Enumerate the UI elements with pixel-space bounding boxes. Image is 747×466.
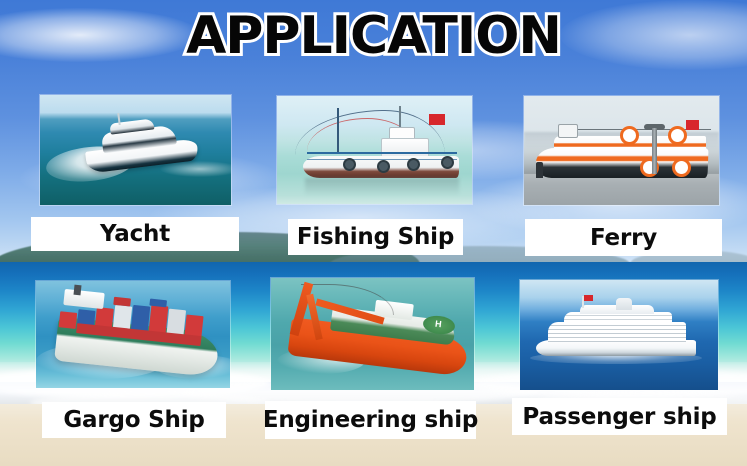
fishing-rail — [307, 152, 457, 160]
red-flag-icon — [686, 120, 699, 130]
photo-fishing-ship — [277, 96, 472, 204]
life-ring-icon — [620, 126, 639, 145]
water-reflection — [305, 178, 459, 196]
label-engineering-ship: Engineering ship — [265, 401, 476, 439]
lamp-post — [652, 128, 657, 174]
fishing-mast — [337, 108, 339, 154]
cruise-decks-lower — [548, 322, 686, 342]
photo-cargo-ship — [36, 281, 230, 388]
cruise-funnel — [616, 298, 632, 310]
photo-ferry — [524, 96, 719, 205]
ferry-bridge — [558, 124, 578, 138]
label-ferry: Ferry — [525, 219, 722, 256]
red-flag-icon — [429, 114, 445, 125]
cargo-funnel — [73, 285, 81, 296]
life-ring-icon — [668, 126, 687, 145]
label-passenger-ship: Passenger ship — [512, 398, 727, 435]
red-flag-icon — [584, 295, 593, 301]
label-cargo-ship: Gargo Ship — [42, 402, 226, 438]
application-slide: APPLICATION Yacht — [0, 0, 747, 466]
fender-icon — [343, 158, 356, 171]
photo-passenger-ship — [520, 280, 718, 390]
photo-engineering-ship — [271, 278, 474, 390]
life-ring-icon — [672, 158, 691, 177]
page-title: APPLICATION — [0, 6, 747, 66]
yacht-mast — [117, 113, 120, 125]
fender-icon — [407, 158, 420, 171]
photo-yacht — [40, 95, 231, 205]
bollard — [536, 162, 543, 178]
quay-pavement — [524, 174, 719, 205]
label-fishing-ship: Fishing Ship — [288, 219, 463, 255]
fender-icon — [441, 156, 454, 169]
label-yacht: Yacht — [31, 217, 239, 251]
cruise-hull — [536, 340, 696, 356]
fender-icon — [377, 160, 390, 173]
